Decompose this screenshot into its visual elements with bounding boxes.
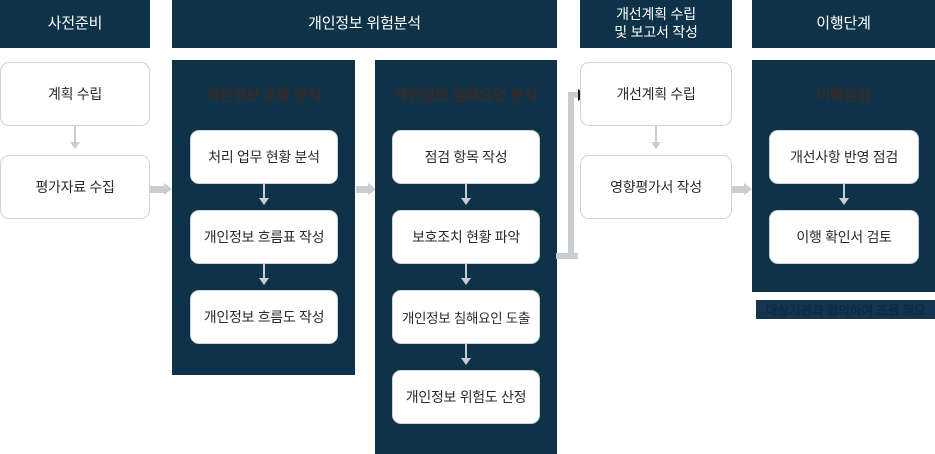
header-prep-label: 사전준비 xyxy=(48,14,102,33)
panel-flow-analysis-title: 개인정보 흐름 분석 xyxy=(172,84,355,105)
step-improvement-1-label: 개선계획 수립 xyxy=(616,84,695,104)
panel-implementation-title: 이행점검 xyxy=(752,84,935,105)
step-improvement-2-label: 영향평가서 작성 xyxy=(610,177,702,197)
flowchart-diagram: 사전준비 개인정보 위험분석 개선계획 수립 및 보고서 작성 이행단계 계획 … xyxy=(0,0,935,454)
header-risk-analysis-label: 개인정보 위험분석 xyxy=(308,14,421,33)
step-flow-3[interactable]: 개인정보 흐름도 작성 xyxy=(190,290,338,344)
arrowhead-risk-2-to-3 xyxy=(461,278,471,285)
step-risk-3[interactable]: 개인정보 침해요인 도출 xyxy=(392,290,540,344)
step-risk-1[interactable]: 점검 항목 작성 xyxy=(392,130,540,184)
header-risk-analysis: 개인정보 위험분석 xyxy=(172,0,557,48)
header-improvement-plan-line2: 및 보고서 작성 xyxy=(614,24,697,42)
step-implementation-2-label: 이행 확인서 검토 xyxy=(796,227,891,247)
elbow-segment-bottom xyxy=(556,253,578,259)
step-flow-2[interactable]: 개인정보 흐름표 작성 xyxy=(190,210,338,264)
step-flow-3-label: 개인정보 흐름도 작성 xyxy=(204,307,324,327)
arrowhead-flow-2-to-3 xyxy=(259,278,269,285)
arrowhead-implementation-1-to-2 xyxy=(839,198,849,205)
header-improvement-plan-line1: 개선계획 수립 xyxy=(616,6,696,24)
arrowhead-improvement-to-implementation xyxy=(744,183,752,195)
header-prep: 사전준비 xyxy=(0,0,150,48)
step-prep-2[interactable]: 평가자료 수집 xyxy=(0,155,150,219)
step-risk-1-label: 점검 항목 작성 xyxy=(425,147,508,167)
step-implementation-2[interactable]: 이행 확인서 검토 xyxy=(769,210,919,264)
arrowhead-prep-to-flow xyxy=(164,183,172,195)
step-implementation-1[interactable]: 개선사항 반영 점검 xyxy=(769,130,919,184)
header-implementation-label: 이행단계 xyxy=(816,14,870,33)
step-risk-2[interactable]: 보호조치 현황 파악 xyxy=(392,210,540,264)
arrowhead-flow-1-to-2 xyxy=(259,198,269,205)
implementation-footnote-label: 대상기관과 협의하여 조율 필요 xyxy=(766,300,926,319)
panel-risk-factor-analysis-title: 개인정보 침해요인 분석 xyxy=(375,84,557,105)
step-improvement-1[interactable]: 개선계획 수립 xyxy=(580,62,732,126)
step-prep-2-label: 평가자료 수집 xyxy=(35,177,114,197)
arrowhead-improvement-1-to-2 xyxy=(651,142,661,149)
step-implementation-1-label: 개선사항 반영 점검 xyxy=(790,147,898,167)
step-flow-2-label: 개인정보 흐름표 작성 xyxy=(204,227,324,247)
header-implementation: 이행단계 xyxy=(752,0,935,48)
implementation-footnote: 대상기관과 협의하여 조율 필요 xyxy=(756,300,935,319)
step-risk-3-label: 개인정보 침해요인 도출 xyxy=(402,307,530,327)
step-flow-1[interactable]: 처리 업무 현황 분석 xyxy=(190,130,338,184)
step-flow-1-label: 처리 업무 현황 분석 xyxy=(208,147,319,167)
arrowhead-risk-3-to-4 xyxy=(461,358,471,365)
step-risk-2-label: 보호조치 현황 파악 xyxy=(412,227,520,247)
step-improvement-2[interactable]: 영향평가서 작성 xyxy=(580,155,732,219)
elbow-segment-vertical xyxy=(568,92,574,259)
step-prep-1[interactable]: 계획 수립 xyxy=(0,62,150,126)
step-prep-1-label: 계획 수립 xyxy=(48,84,102,104)
header-improvement-plan: 개선계획 수립 및 보고서 작성 xyxy=(580,0,732,48)
arrowhead-risk-1-to-2 xyxy=(461,198,471,205)
step-risk-4[interactable]: 개인정보 위험도 산정 xyxy=(392,370,540,424)
step-risk-4-label: 개인정보 위험도 산정 xyxy=(406,387,526,407)
arrowhead-prep-1-to-2 xyxy=(70,142,80,149)
